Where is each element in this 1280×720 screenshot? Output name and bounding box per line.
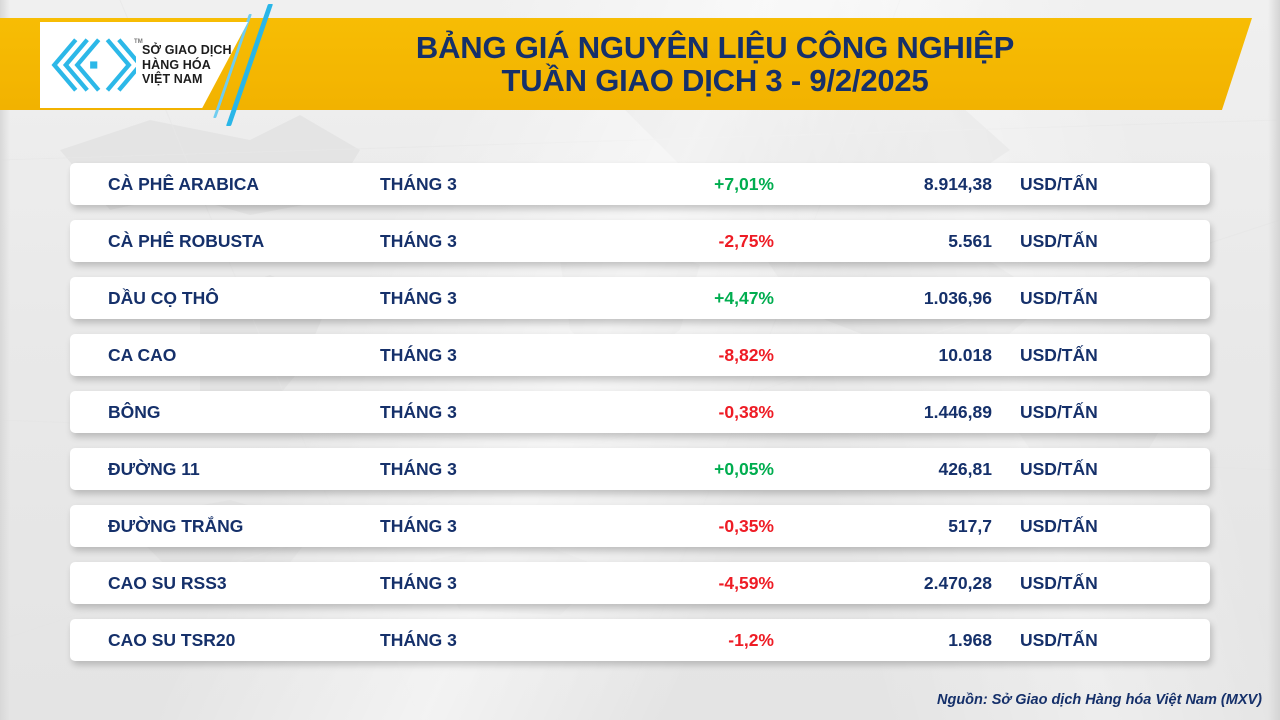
row-price-change: +0,05% (580, 459, 802, 480)
row-commodity-name: CAO SU RSS3 (70, 573, 380, 594)
price-table: CÀ PHÊ ARABICATHÁNG 3+7,01%8.914,38USD/T… (70, 163, 1210, 676)
row-contract-month: THÁNG 3 (380, 288, 580, 309)
row-price-value: 517,7 (802, 516, 992, 537)
row-price-value: 1.968 (802, 630, 992, 651)
row-price-unit: USD/TẤN (992, 402, 1192, 423)
row-commodity-name: ĐƯỜNG 11 (70, 459, 380, 480)
row-price-change: +7,01% (580, 174, 802, 195)
row-price-unit: USD/TẤN (992, 174, 1192, 195)
page-title: BẢNG GIÁ NGUYÊN LIỆU CÔNG NGHIỆP TUẦN GI… (300, 18, 1130, 110)
brand-line-1: SỞ GIAO DỊCH (142, 43, 232, 58)
row-price-change: -1,2% (580, 630, 802, 651)
row-commodity-name: DẦU CỌ THÔ (70, 288, 380, 309)
row-commodity-name: CA CAO (70, 345, 380, 366)
source-note: Nguồn: Sở Giao dịch Hàng hóa Việt Nam (M… (937, 692, 1262, 708)
row-commodity-name: CÀ PHÊ ROBUSTA (70, 231, 380, 252)
table-row[interactable]: CAO SU TSR20THÁNG 3-1,2%1.968USD/TẤN (70, 619, 1210, 661)
row-price-value: 426,81 (802, 459, 992, 480)
row-price-value: 1.036,96 (802, 288, 992, 309)
row-contract-month: THÁNG 3 (380, 573, 580, 594)
row-contract-month: THÁNG 3 (380, 402, 580, 423)
row-price-change: +4,47% (580, 288, 802, 309)
row-price-unit: USD/TẤN (992, 630, 1192, 651)
table-row[interactable]: CÀ PHÊ ROBUSTATHÁNG 3-2,75%5.561USD/TẤN (70, 220, 1210, 262)
table-row[interactable]: DẦU CỌ THÔTHÁNG 3+4,47%1.036,96USD/TẤN (70, 277, 1210, 319)
trademark-icon: TM (134, 39, 143, 46)
row-price-unit: USD/TẤN (992, 459, 1192, 480)
page-title-line-2: TUẦN GIAO DỊCH 3 - 9/2/2025 (502, 65, 929, 97)
row-price-change: -4,59% (580, 573, 802, 594)
row-price-unit: USD/TẤN (992, 573, 1192, 594)
row-contract-month: THÁNG 3 (380, 630, 580, 651)
row-price-value: 8.914,38 (802, 174, 992, 195)
row-price-change: -0,35% (580, 516, 802, 537)
row-price-unit: USD/TẤN (992, 231, 1192, 252)
row-price-value: 2.470,28 (802, 573, 992, 594)
table-row[interactable]: CA CAOTHÁNG 3-8,82%10.018USD/TẤN (70, 334, 1210, 376)
row-contract-month: THÁNG 3 (380, 231, 580, 252)
row-price-change: -2,75% (580, 231, 802, 252)
row-price-change: -0,38% (580, 402, 802, 423)
row-price-unit: USD/TẤN (992, 345, 1192, 366)
row-commodity-name: CAO SU TSR20 (70, 630, 380, 651)
table-row[interactable]: CÀ PHÊ ARABICATHÁNG 3+7,01%8.914,38USD/T… (70, 163, 1210, 205)
page-title-line-1: BẢNG GIÁ NGUYÊN LIỆU CÔNG NGHIỆP (416, 32, 1014, 64)
row-commodity-name: BÔNG (70, 402, 380, 423)
page-header: TM SỞ GIAO DỊCH HÀNG HÓA VIỆT NAM BẢNG G… (0, 0, 1280, 128)
row-contract-month: THÁNG 3 (380, 345, 580, 366)
brand-line-2: HÀNG HÓA (142, 58, 232, 73)
row-commodity-name: ĐƯỜNG TRẮNG (70, 516, 380, 537)
table-row[interactable]: ĐƯỜNG 11THÁNG 3+0,05%426,81USD/TẤN (70, 448, 1210, 490)
mxv-weave-logo-icon (50, 37, 136, 93)
row-contract-month: THÁNG 3 (380, 174, 580, 195)
row-contract-month: THÁNG 3 (380, 459, 580, 480)
row-price-change: -8,82% (580, 345, 802, 366)
row-commodity-name: CÀ PHÊ ARABICA (70, 174, 380, 195)
row-price-value: 5.561 (802, 231, 992, 252)
row-price-unit: USD/TẤN (992, 516, 1192, 537)
table-row[interactable]: CAO SU RSS3THÁNG 3-4,59%2.470,28USD/TẤN (70, 562, 1210, 604)
row-contract-month: THÁNG 3 (380, 516, 580, 537)
table-row[interactable]: ĐƯỜNG TRẮNGTHÁNG 3-0,35%517,7USD/TẤN (70, 505, 1210, 547)
price-board-page: TM SỞ GIAO DỊCH HÀNG HÓA VIỆT NAM BẢNG G… (0, 0, 1280, 720)
table-row[interactable]: BÔNGTHÁNG 3-0,38%1.446,89USD/TẤN (70, 391, 1210, 433)
row-price-value: 10.018 (802, 345, 992, 366)
row-price-unit: USD/TẤN (992, 288, 1192, 309)
row-price-value: 1.446,89 (802, 402, 992, 423)
